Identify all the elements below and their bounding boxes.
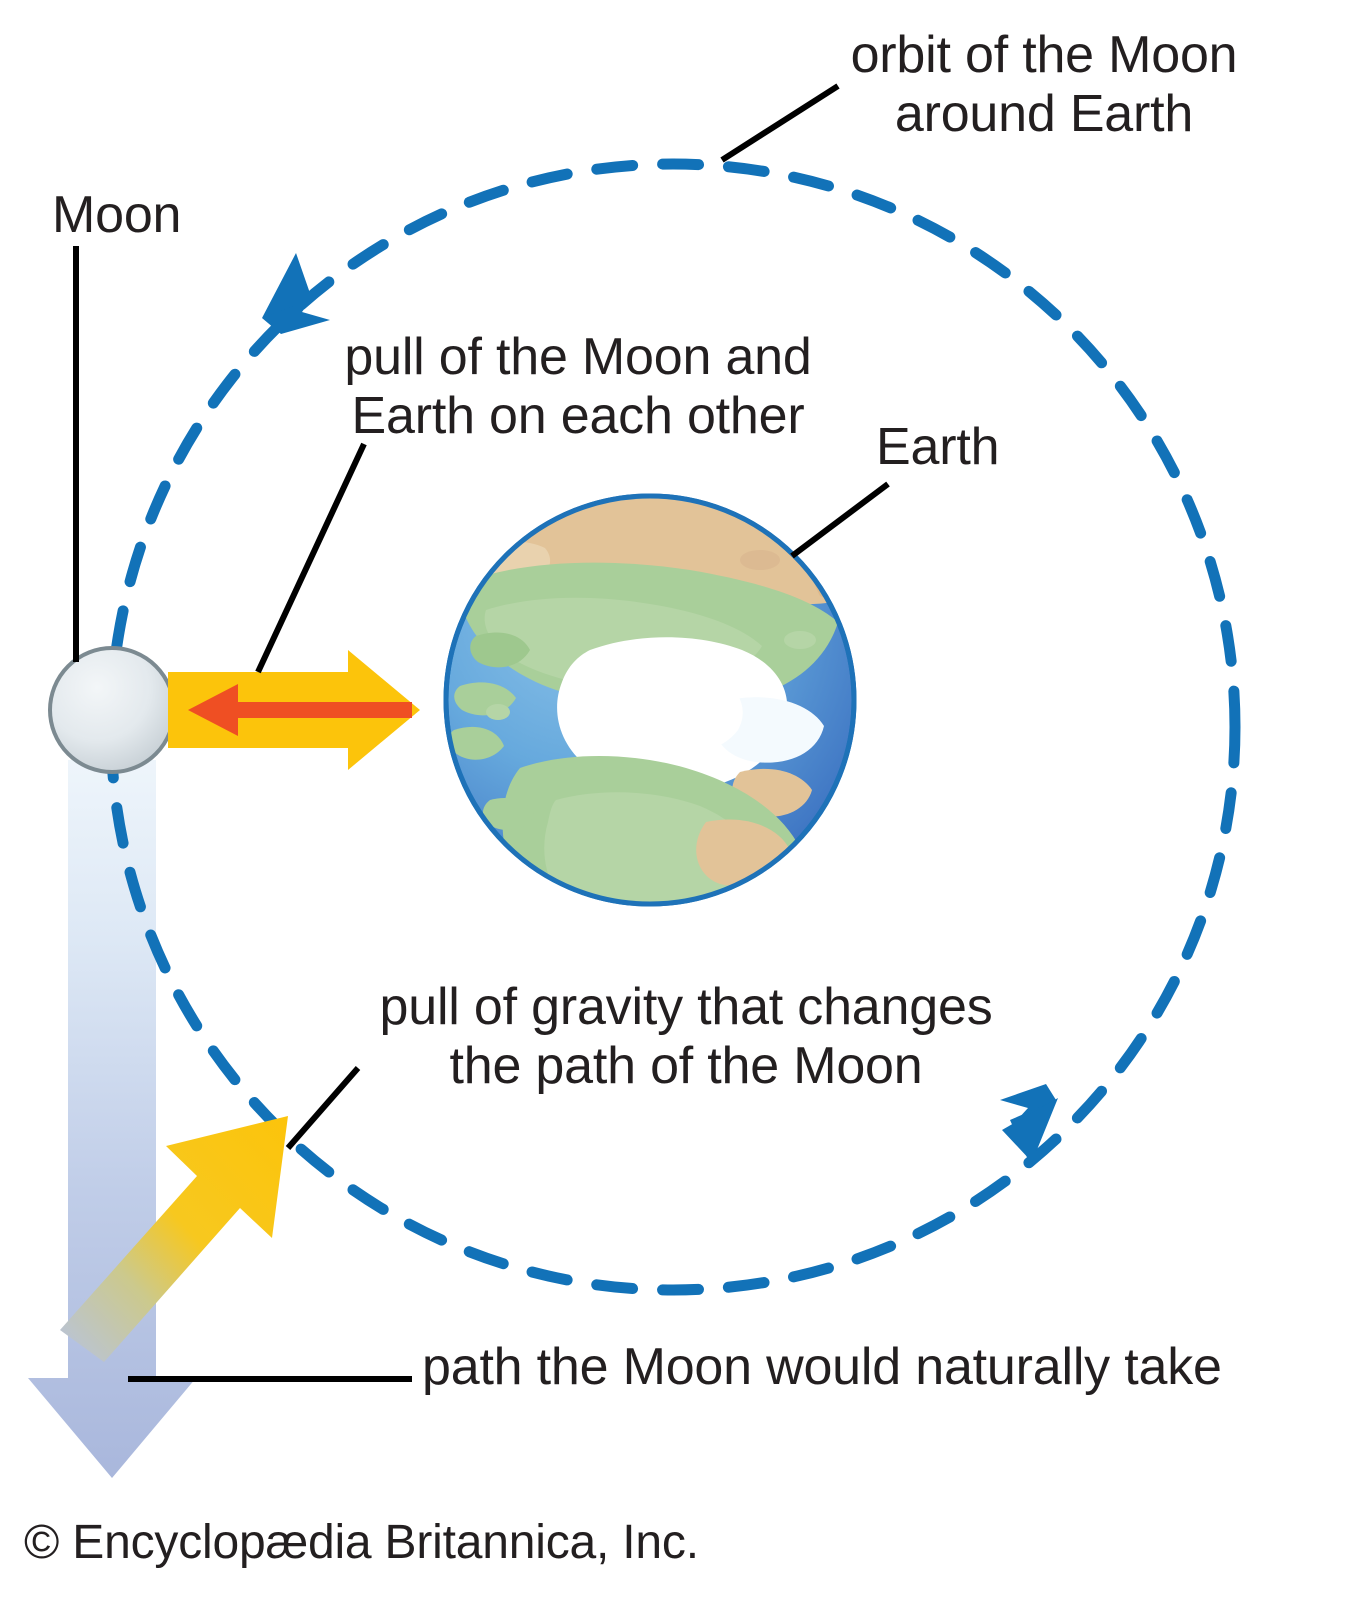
mutual-pull-arrow [168, 650, 420, 770]
moon-sphere [50, 648, 174, 772]
label-pull-of-gravity: pull of gravity that changes the path of… [346, 978, 1026, 1096]
leader-line-pull-both [258, 444, 364, 672]
label-earth: Earth [876, 418, 1076, 477]
leader-line-orbit [722, 86, 838, 160]
leader-line-earth [792, 484, 888, 556]
label-moon: Moon [52, 186, 232, 245]
label-orbit-of-the-moon: orbit of the Moon around Earth [826, 26, 1262, 144]
moon-orbit-diagram: orbit of the Moon around Earth Moon pull… [0, 0, 1372, 1600]
label-pull-of-moon-and-earth: pull of the Moon and Earth on each other [318, 328, 838, 446]
copyright-credit: © Encyclopædia Britannica, Inc. [24, 1516, 724, 1570]
label-natural-path: path the Moon would naturally take [422, 1338, 1292, 1397]
natural-path-arrow [28, 760, 196, 1478]
